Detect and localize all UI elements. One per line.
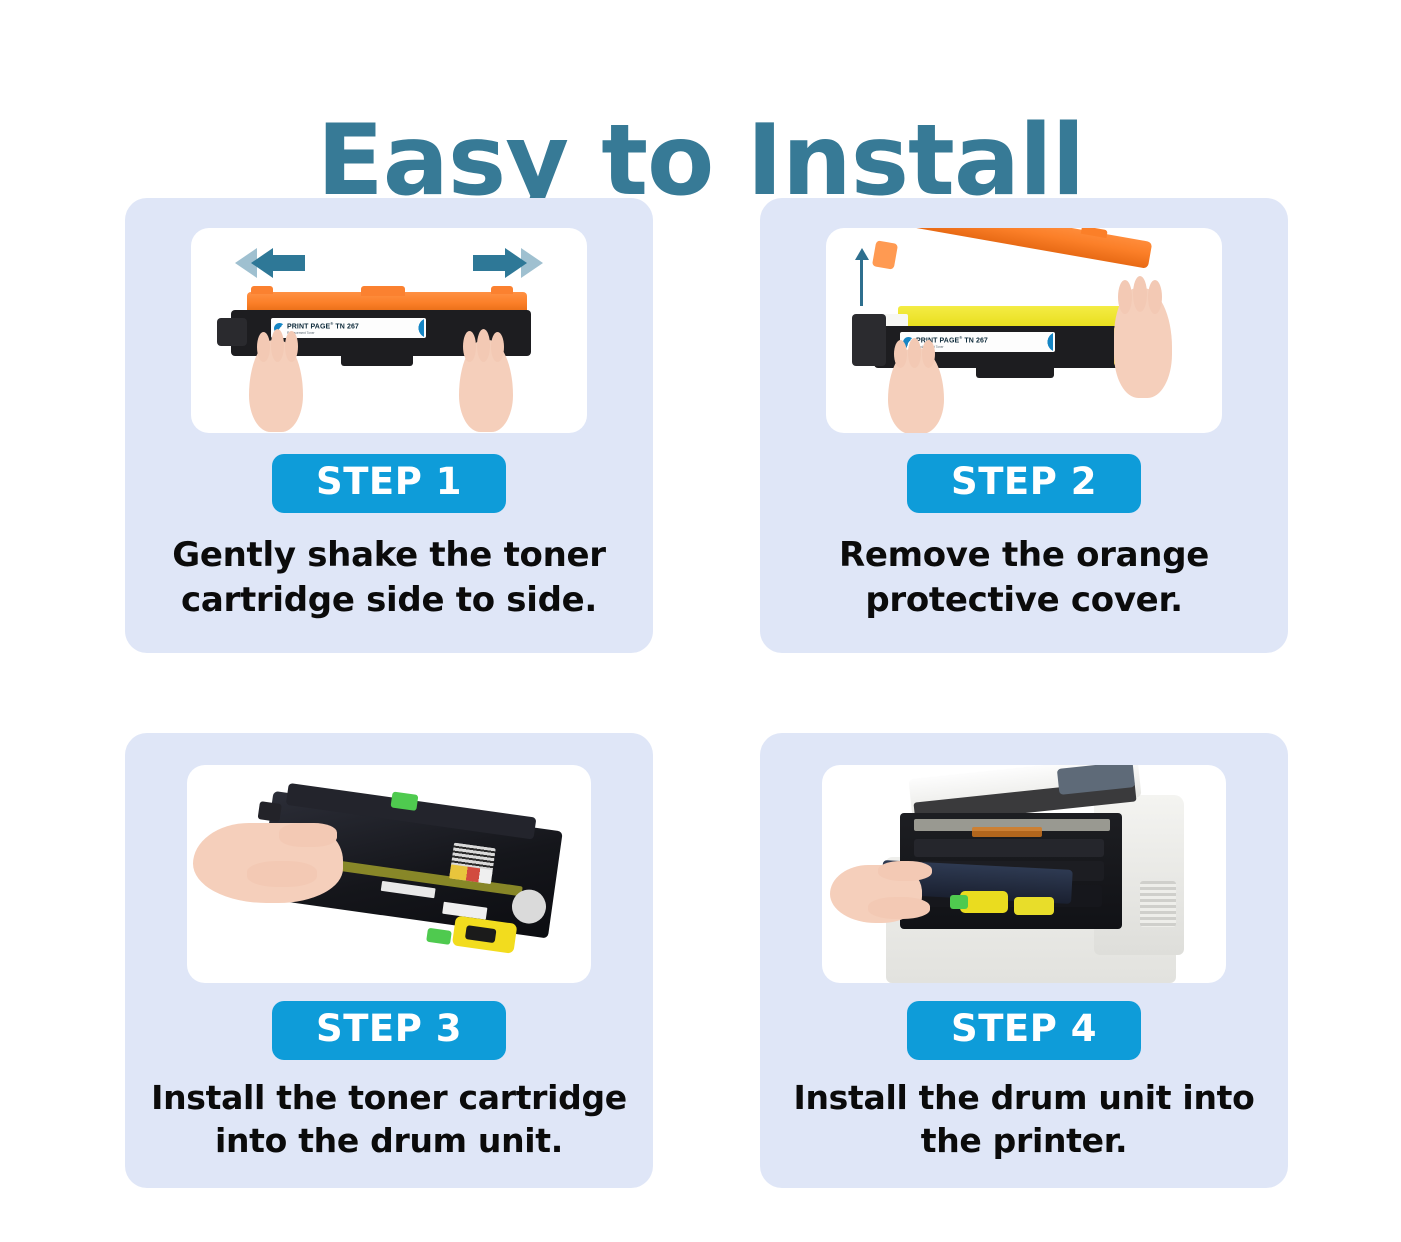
step-card-1: PRINT PAGE® TN 267 Replacement Toner bbox=[125, 198, 653, 653]
step-3-badge: STEP 3 bbox=[272, 1001, 506, 1060]
drum-green-lever-top bbox=[390, 791, 418, 810]
step-4-illustration bbox=[822, 765, 1226, 983]
hand-index-finger bbox=[279, 823, 337, 847]
cover-end-cap bbox=[872, 240, 898, 269]
drum-left-tab bbox=[258, 801, 282, 822]
step-2-badge: STEP 2 bbox=[907, 454, 1141, 513]
right-finger-2 bbox=[1133, 276, 1147, 312]
printer-vent bbox=[1140, 881, 1176, 927]
left-finger-1 bbox=[257, 332, 270, 362]
step-4-badge: STEP 4 bbox=[907, 1001, 1141, 1060]
drum-green-lever bbox=[426, 928, 452, 945]
step-1-badge: STEP 1 bbox=[272, 454, 506, 513]
cartridge-left-end bbox=[217, 318, 247, 346]
right-finger-1 bbox=[463, 331, 476, 362]
step-2-description: Remove the orange protective cover. bbox=[789, 533, 1259, 623]
drum-slot-1 bbox=[914, 839, 1104, 857]
label-swoosh-icon bbox=[1031, 333, 1053, 351]
right-finger-2 bbox=[477, 329, 490, 362]
easy-to-install-infographic: Easy to Install bbox=[0, 0, 1401, 1242]
printer-orange-marker bbox=[972, 827, 1042, 837]
label-brand: PRINT PAGE bbox=[287, 324, 330, 331]
label-registered-mark: ® bbox=[330, 321, 333, 326]
step-1-description: Gently shake the toner cartridge side to… bbox=[154, 533, 624, 623]
step-4-description: Install the drum unit into the printer. bbox=[779, 1076, 1269, 1163]
orange-protective-cover bbox=[880, 228, 1153, 269]
label-brand: PRINT PAGE bbox=[916, 338, 959, 345]
orange-cover-tab-right bbox=[491, 286, 513, 294]
step-4-image bbox=[822, 765, 1226, 983]
step-1-illustration: PRINT PAGE® TN 267 Replacement Toner bbox=[191, 228, 587, 433]
step-3-illustration bbox=[187, 765, 591, 983]
arrow-up-icon bbox=[860, 258, 863, 306]
steps-grid: PRINT PAGE® TN 267 Replacement Toner bbox=[125, 198, 1288, 1188]
step-1-image: PRINT PAGE® TN 267 Replacement Toner bbox=[191, 228, 587, 433]
right-finger-1 bbox=[1118, 280, 1132, 314]
left-finger-2 bbox=[271, 329, 284, 362]
cartridge-left-end bbox=[852, 314, 886, 366]
arrow-left-double-icon bbox=[235, 246, 305, 285]
left-finger-2 bbox=[908, 338, 921, 368]
step-3-image bbox=[187, 765, 591, 983]
yellow-drum-bar bbox=[898, 306, 1138, 328]
label-model: TN 267 bbox=[964, 338, 988, 345]
left-finger-3 bbox=[922, 340, 935, 368]
hand-thumb bbox=[868, 897, 930, 919]
right-finger-3 bbox=[1148, 280, 1162, 314]
left-finger-3 bbox=[285, 331, 298, 362]
right-finger-3 bbox=[491, 332, 504, 362]
orange-cover-tab bbox=[361, 286, 405, 296]
drum-yellow-lever-2 bbox=[1014, 897, 1054, 915]
step-2-image: PRINT PAGE® TN 267 Replacement Toner bbox=[826, 228, 1222, 433]
step-card-4: STEP 4 Install the drum unit into the pr… bbox=[760, 733, 1288, 1188]
label-swoosh-icon bbox=[402, 319, 424, 337]
label-model: TN 267 bbox=[335, 324, 359, 331]
drum-green-lever bbox=[950, 895, 968, 909]
hand-thumb bbox=[247, 861, 317, 887]
orange-cover-tab-left bbox=[251, 286, 273, 294]
cartridge-handle bbox=[976, 366, 1054, 378]
step-card-2: PRINT PAGE® TN 267 Replacement Toner bbox=[760, 198, 1288, 653]
step-3-description: Install the toner cartridge into the dru… bbox=[144, 1076, 634, 1163]
step-2-illustration: PRINT PAGE® TN 267 Replacement Toner bbox=[826, 228, 1222, 433]
cartridge-handle bbox=[341, 354, 413, 366]
label-subtitle: Replacement Toner bbox=[287, 331, 359, 335]
arrow-right-double-icon bbox=[473, 246, 543, 285]
hand-index-finger bbox=[878, 861, 932, 881]
left-finger-1 bbox=[894, 340, 907, 368]
label-registered-mark: ® bbox=[959, 335, 962, 340]
step-card-3: STEP 3 Install the toner cartridge into … bbox=[125, 733, 653, 1188]
